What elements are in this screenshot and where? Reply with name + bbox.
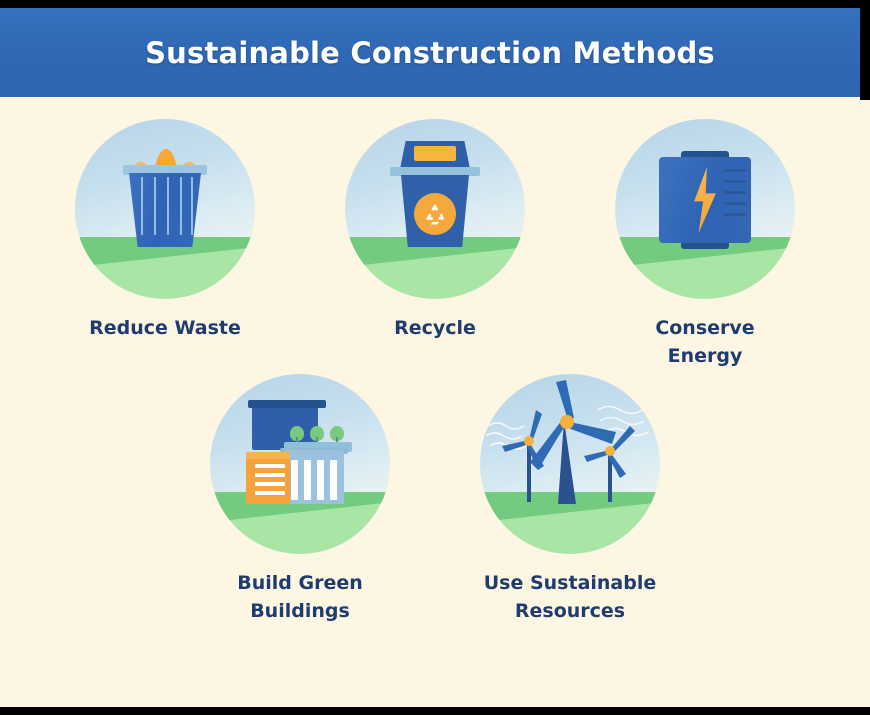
method-card-conserve-energy[interactable]: Conserve Energy [615,119,795,370]
label-line: Build Green [237,570,363,598]
method-label-conserve-energy: Conserve Energy [615,315,795,370]
method-label-reduce-waste: Reduce Waste [89,315,241,343]
letterbox-right [860,0,870,100]
label-line: Use Sustainable [484,570,657,598]
recycle-bin-lid-patch [414,146,456,161]
method-card-use-sustainable-resources[interactable]: Use Sustainable Resources [480,374,660,625]
trash-bin-leaves-icon [75,119,255,299]
building-dark-roof [248,400,326,408]
wind-turbine-center [530,380,616,504]
recycle-arrows-icon [422,201,448,227]
recycle-bin-icon [345,119,525,299]
green-buildings-icon [210,374,390,554]
label-line: Buildings [237,598,363,626]
poster-canvas: Sustainable Construction Methods [0,0,870,715]
energy-unit-shape [659,151,751,249]
page-title: Sustainable Construction Methods [145,36,715,70]
method-card-recycle[interactable]: Recycle [345,119,525,370]
letterbox-bottom [0,707,870,715]
method-label-build-green-buildings: Build Green Buildings [237,570,363,625]
method-card-build-green-buildings[interactable]: Build Green Buildings [210,374,390,625]
building-orange-windows [255,464,285,500]
recycle-bin-shape [390,141,480,247]
trash-bin-shape [123,155,207,247]
method-card-reduce-waste[interactable]: Reduce Waste [75,119,255,370]
wind-scene [480,374,660,554]
methods-row-2: Build Green Buildings [0,370,870,625]
methods-row-1: Reduce Waste [0,97,870,370]
energy-fins [724,169,746,227]
building-orange-roof [246,452,290,459]
methods-grid: Reduce Waste [0,97,870,707]
bin-ribs [129,177,201,243]
buildings-shape [246,400,354,504]
recycle-symbol-badge [414,193,456,235]
wind-turbines-icon [480,374,660,554]
label-line: Resources [484,598,657,626]
recycle-bin-rim [390,167,480,176]
energy-battery-bolt-icon [615,119,795,299]
method-label-use-sustainable-resources: Use Sustainable Resources [484,570,657,625]
building-light-windows [291,460,337,500]
header-banner: Sustainable Construction Methods [0,8,860,97]
method-label-recycle: Recycle [394,315,476,343]
letterbox-top [0,0,870,8]
